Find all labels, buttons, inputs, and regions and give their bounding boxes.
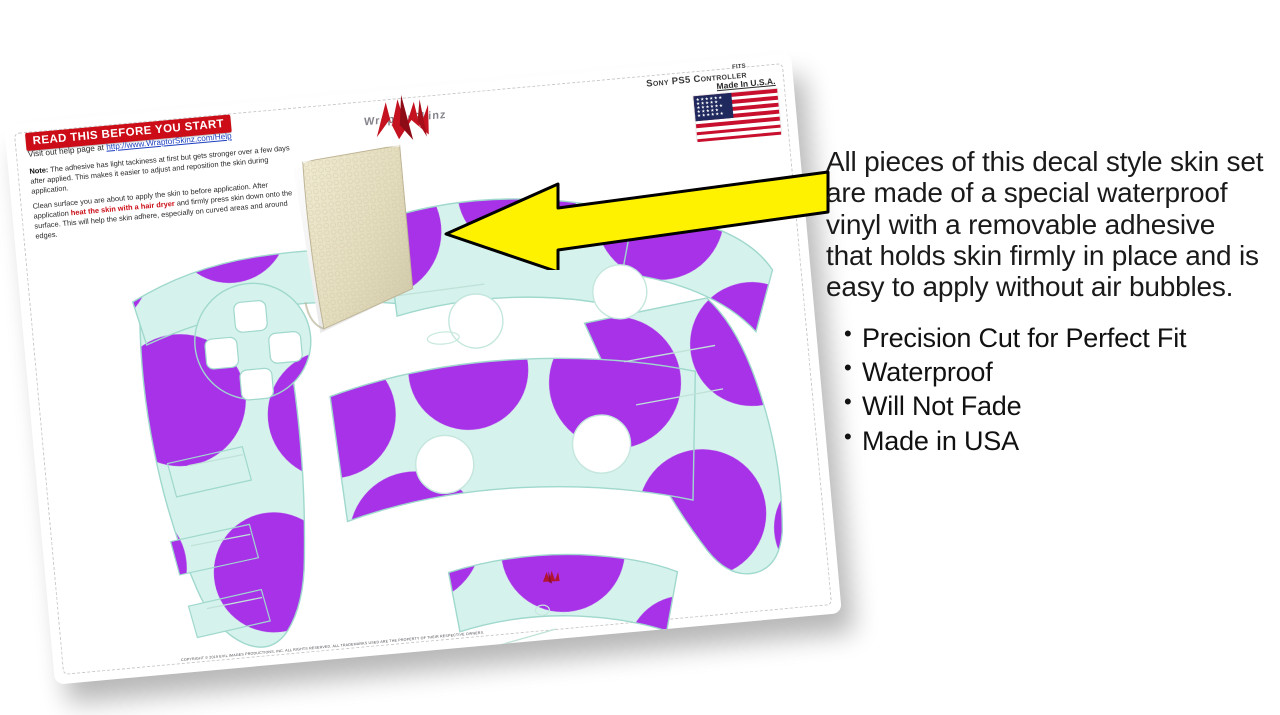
marketing-paragraph: All pieces of this decal style skin set … [826,146,1266,303]
list-item: Will Not Fade [844,389,1266,423]
usa-flag-icon: ★★★★★★★★★★★★★★★★★★★★★★★★★★★★ [692,88,782,142]
list-item: Made in USA [844,424,1266,458]
list-item: Precision Cut for Perfect Fit [844,321,1266,355]
peel-corner-arrow [440,150,830,270]
flag-stars: ★★★★★★★★★★★★★★★★★★★★★★★★★★★★ [696,91,779,138]
feature-bullet-list: Precision Cut for Perfect Fit Waterproof… [826,321,1266,458]
list-item: Waterproof [844,355,1266,389]
product-image-canvas: READ THIS BEFORE YOU START Visit out hel… [0,0,1280,715]
wraptorskinz-slash-mark [361,91,451,147]
marketing-copy: All pieces of this decal style skin set … [826,146,1266,458]
decal-skin-sheet: READ THIS BEFORE YOU START Visit out hel… [4,53,842,684]
